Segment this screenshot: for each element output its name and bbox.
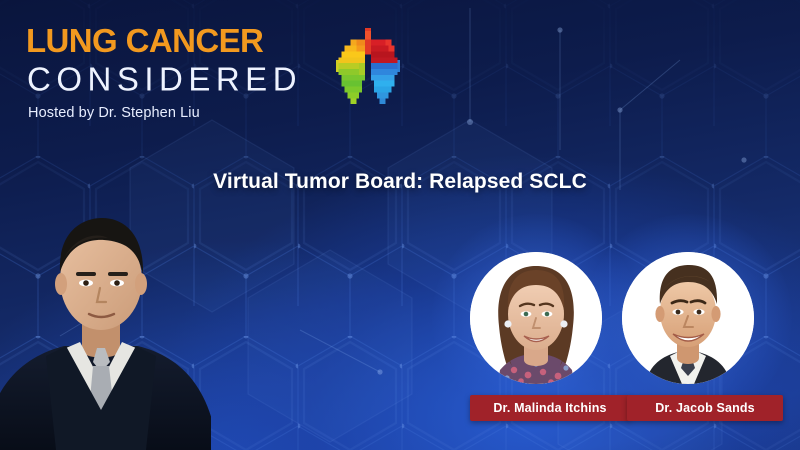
- page-title: Virtual Tumor Board: Relapsed SCLC: [0, 170, 800, 194]
- pixelated-lungs-icon: [329, 28, 407, 110]
- host-credit-text: Hosted by Dr. Stephen Liu: [28, 104, 200, 122]
- avatar-sands: [622, 252, 754, 384]
- host-portrait: [0, 196, 211, 450]
- avatar-itchins: [470, 252, 602, 384]
- name-badge-sands: Dr. Jacob Sands: [627, 395, 783, 421]
- brand-line-considered: CONSIDERED: [27, 60, 302, 99]
- episode-title-card: LUNG CANCER CONSIDERED Hosted by Dr. Ste…: [0, 0, 800, 450]
- brand-line-lung-cancer: LUNG CANCER: [26, 22, 263, 60]
- name-badge-itchins: Dr. Malinda Itchins: [470, 395, 630, 421]
- show-logo: LUNG CANCER CONSIDERED Hosted by Dr. Ste…: [26, 22, 406, 130]
